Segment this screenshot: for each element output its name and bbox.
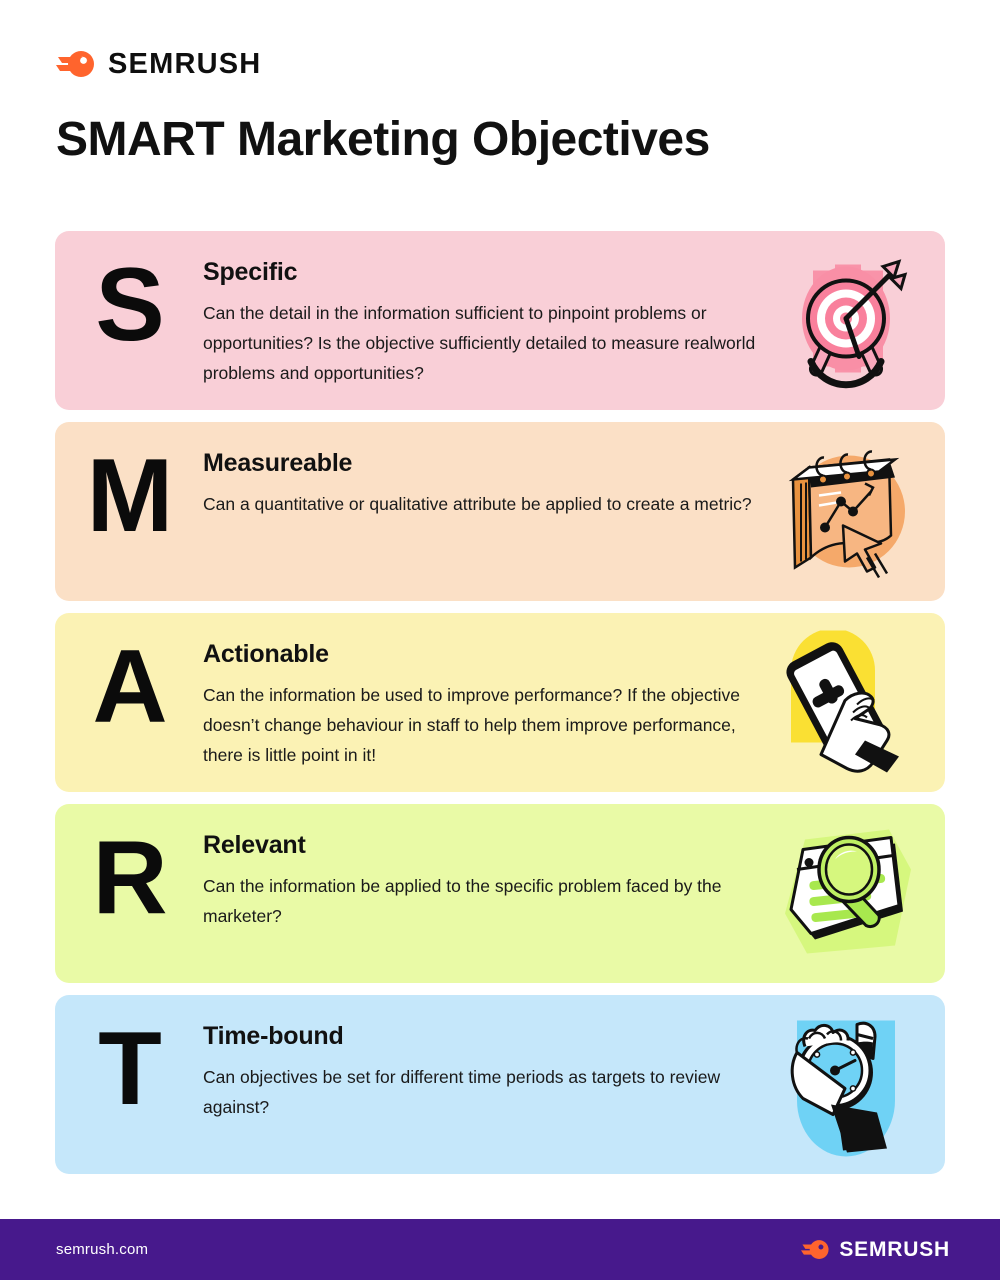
card-text-time-bound: Can objectives be set for different time… bbox=[203, 1062, 763, 1122]
target-dartboard-arrow-icon bbox=[771, 248, 921, 393]
footer-url[interactable]: semrush.com bbox=[56, 1241, 148, 1258]
calendar-chart-cursor-icon bbox=[771, 439, 921, 584]
card-letter-t: T bbox=[55, 995, 203, 1121]
card-text-actionable: Can the information be used to improve p… bbox=[203, 680, 763, 770]
semrush-comet-icon bbox=[56, 48, 96, 80]
card-text-relevant: Can the information be applied to the sp… bbox=[203, 871, 763, 931]
card-measureable: M Measureable Can a quantitative or qual… bbox=[55, 422, 945, 601]
card-time-bound: T Time-bound Can objectives be set for d… bbox=[55, 995, 945, 1174]
card-letter-r: R bbox=[55, 804, 203, 930]
smart-cards-list: S Specific Can the detail in the informa… bbox=[55, 231, 945, 1186]
card-letter-a: A bbox=[55, 613, 203, 739]
card-specific: S Specific Can the detail in the informa… bbox=[55, 231, 945, 410]
card-letter-m: M bbox=[55, 422, 203, 548]
semrush-comet-icon bbox=[801, 1238, 830, 1261]
card-text-specific: Can the detail in the information suffic… bbox=[203, 298, 763, 388]
browser-magnifying-glass-icon bbox=[771, 821, 921, 966]
footer-wordmark: SEMRUSH bbox=[839, 1239, 950, 1260]
card-actionable: A Actionable Can the information be used… bbox=[55, 613, 945, 792]
semrush-logo: SEMRUSH bbox=[56, 48, 261, 80]
footer-semrush-logo: SEMRUSH bbox=[801, 1238, 950, 1261]
card-text-measureable: Can a quantitative or qualitative attrib… bbox=[203, 489, 763, 519]
hand-tapping-phone-icon bbox=[771, 630, 921, 775]
page-title: SMART Marketing Objectives bbox=[56, 112, 710, 167]
infographic-page: SEMRUSH SMART Marketing Objectives S Spe… bbox=[0, 0, 1000, 1280]
card-letter-s: S bbox=[55, 231, 203, 357]
card-relevant: R Relevant Can the information be applie… bbox=[55, 804, 945, 983]
footer-bar: semrush.com SEMRUSH bbox=[0, 1219, 1000, 1280]
hand-holding-stopwatch-icon bbox=[771, 1012, 921, 1157]
semrush-wordmark: SEMRUSH bbox=[108, 50, 261, 79]
